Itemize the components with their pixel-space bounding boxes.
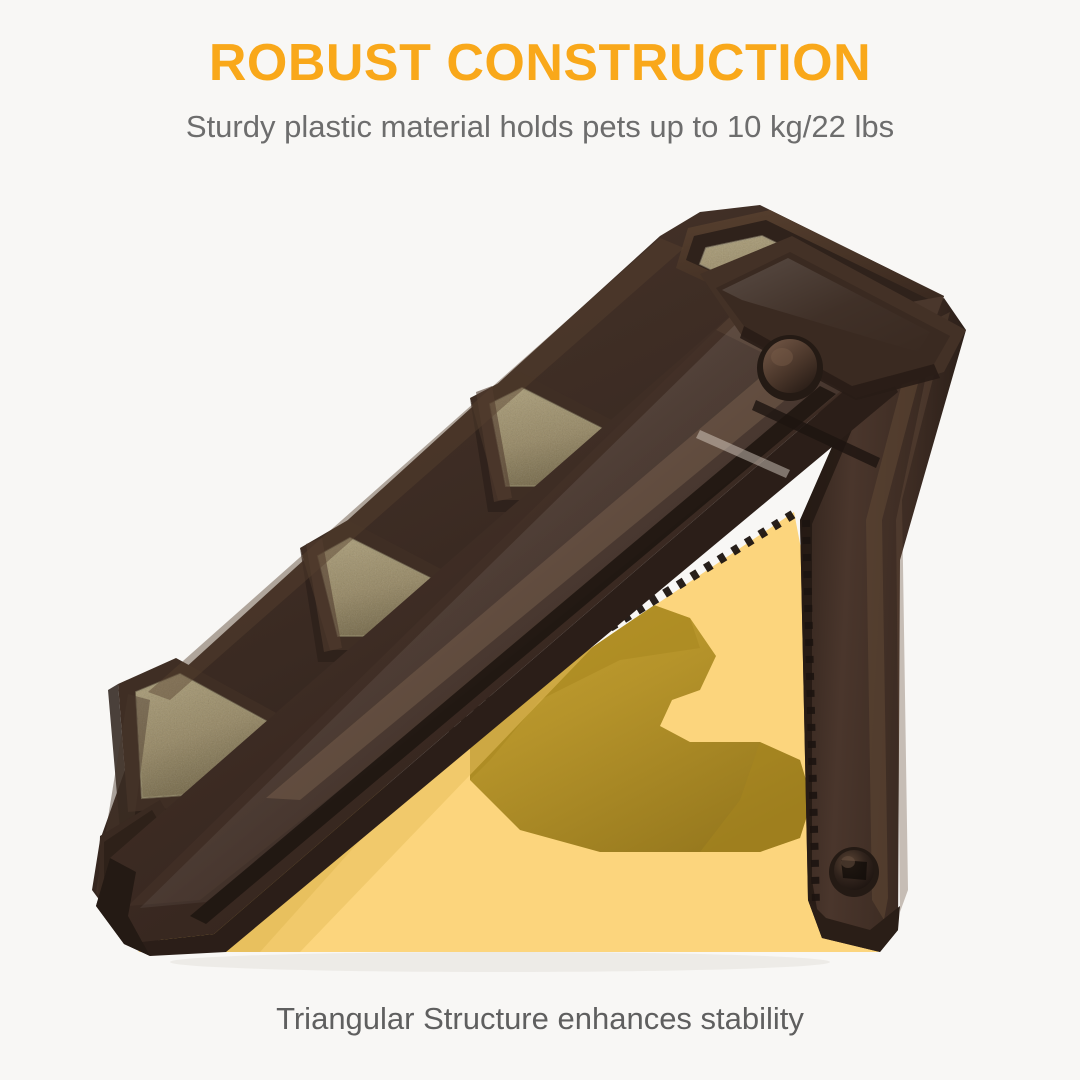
leg-bolt [829,847,879,897]
product-feature-slide: ROBUST CONSTRUCTION Sturdy plastic mater… [0,0,1080,1080]
pivot-hinge-knob [757,335,823,401]
caption-text: Triangular Structure enhances stability [0,1000,1080,1037]
product-image-folding-pet-stairs [0,0,1080,1080]
